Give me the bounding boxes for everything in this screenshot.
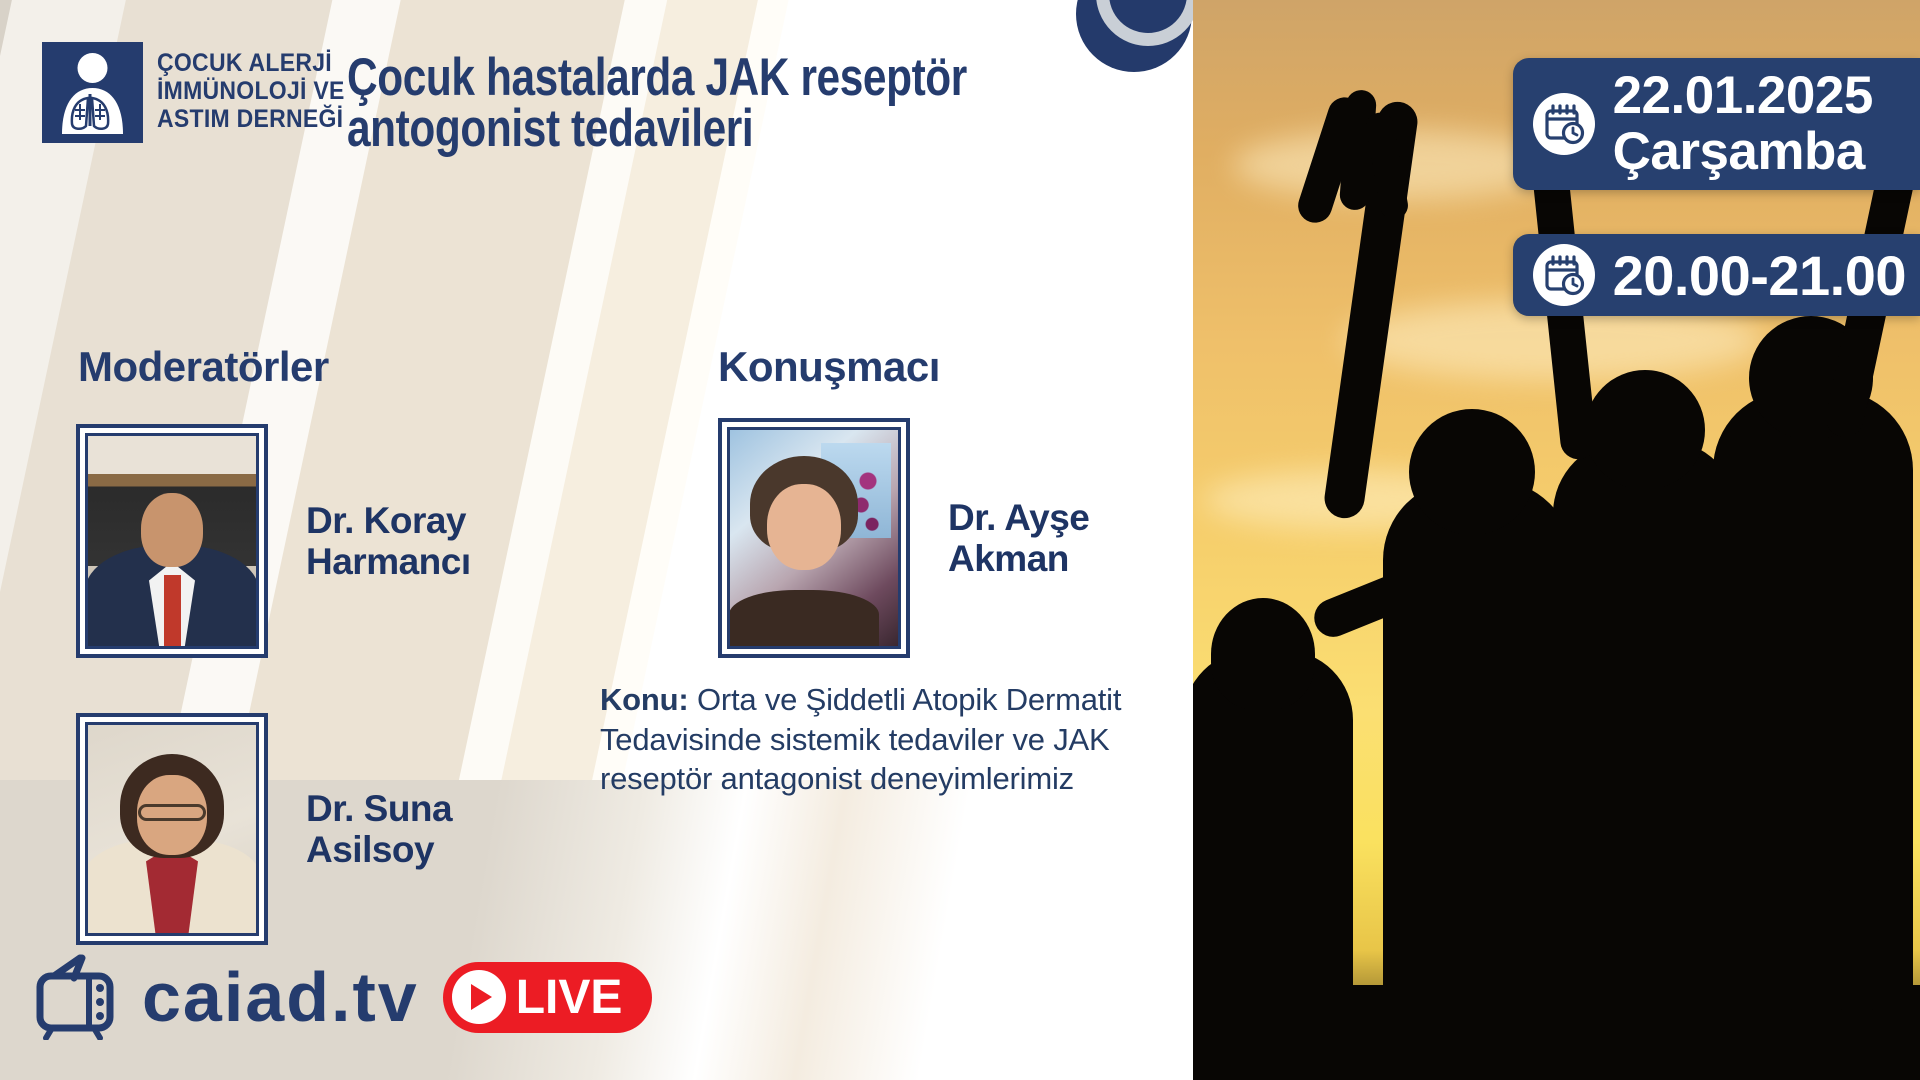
moderator-name: Dr. Koray Harmancı xyxy=(306,500,471,583)
ground-silhouette xyxy=(1193,985,1920,1080)
calendar-clock-icon xyxy=(1533,93,1595,155)
speaker-name: Dr. Ayşe Akman xyxy=(948,497,1089,580)
speaker-card: Dr. Ayşe Akman xyxy=(718,418,1089,658)
webinar-announcement-poster: ÇOCUK ALERJİ İMMÜNOLOJİ VE ASTIM DERNEĞİ… xyxy=(0,0,1920,1080)
moderator-name: Dr. Suna Asilsoy xyxy=(306,788,452,871)
time-badge: 20.00-21.00 xyxy=(1513,234,1920,316)
moderator-card: Dr. Suna Asilsoy xyxy=(76,713,452,945)
brand-name[interactable]: caiad.tv xyxy=(142,957,419,1037)
page-title: Çocuk hastalarda JAK reseptör antogonist… xyxy=(347,52,1003,155)
footer-branding: caiad.tv LIVE xyxy=(36,954,652,1040)
speaker-heading: Konuşmacı xyxy=(718,343,940,391)
live-label: LIVE xyxy=(516,970,623,1025)
org-name-line-1: ÇOCUK ALERJİ xyxy=(157,51,345,76)
portrait-frame xyxy=(718,418,910,658)
child-silhouette-head xyxy=(1409,409,1535,535)
organization-logo: ÇOCUK ALERJİ İMMÜNOLOJİ VE ASTIM DERNEĞİ xyxy=(42,42,361,143)
child-silhouette xyxy=(1553,440,1738,1080)
portrait-frame xyxy=(76,713,268,945)
schedule-badges: 22.01.2025 Çarşamba 20.00-21.00 xyxy=(1513,58,1920,316)
live-badge[interactable]: LIVE xyxy=(443,962,653,1033)
child-silhouette-head xyxy=(1211,598,1315,710)
organization-name: ÇOCUK ALERJİ İMMÜNOLOJİ VE ASTIM DERNEĞİ xyxy=(157,51,361,135)
lungs-person-logo-icon xyxy=(42,42,143,143)
topic-label: Konu: xyxy=(600,682,689,717)
time-text: 20.00-21.00 xyxy=(1613,246,1906,305)
date-text: 22.01.2025 Çarşamba xyxy=(1613,68,1873,180)
org-name-line-3: ASTIM DERNEĞİ xyxy=(157,107,345,132)
moderator-card: Dr. Koray Harmancı xyxy=(76,424,471,658)
television-icon xyxy=(36,954,132,1040)
play-icon xyxy=(452,970,506,1024)
moderators-heading: Moderatörler xyxy=(78,343,329,391)
portrait-frame xyxy=(76,424,268,658)
portrait-koray-harmanci xyxy=(85,433,259,649)
org-name-line-2: İMMÜNOLOJİ VE xyxy=(157,79,345,104)
child-silhouette xyxy=(1713,390,1913,1080)
topic-description: Konu: Orta ve Şiddetli Atopik Dermatit T… xyxy=(600,680,1200,799)
calendar-clock-icon xyxy=(1533,244,1595,306)
portrait-suna-asilsoy xyxy=(85,722,259,936)
date-badge: 22.01.2025 Çarşamba xyxy=(1513,58,1920,190)
portrait-ayse-akman xyxy=(727,427,901,649)
child-silhouette-head xyxy=(1585,370,1705,490)
